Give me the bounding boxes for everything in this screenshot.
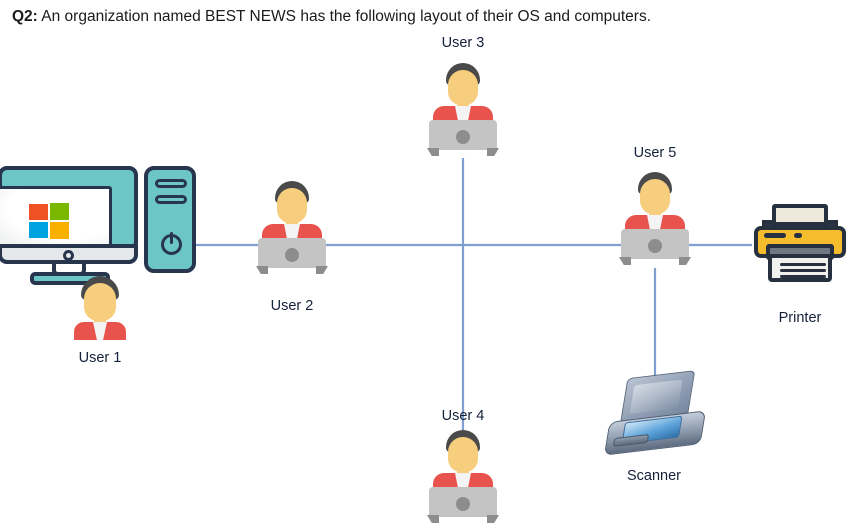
node-label-user5: User 5 bbox=[634, 145, 677, 161]
node-user5[interactable]: User 5 bbox=[613, 172, 697, 260]
laptop-user-icon bbox=[613, 172, 697, 260]
power-button-icon[interactable] bbox=[161, 234, 182, 255]
laptop-user-icon bbox=[421, 430, 505, 518]
monitor-power-led bbox=[63, 250, 74, 261]
node-label-printer: Printer bbox=[779, 310, 822, 326]
node-user2[interactable]: User 2 bbox=[250, 181, 334, 269]
laptop-user-icon bbox=[421, 63, 505, 151]
laptop-logo bbox=[456, 130, 470, 144]
laptop-user-icon bbox=[250, 181, 334, 269]
node-user1[interactable]: User 1 bbox=[16, 158, 201, 280]
node-user4[interactable]: User 4 bbox=[421, 430, 505, 518]
user1-avatar bbox=[68, 276, 132, 338]
node-label-user1: User 1 bbox=[79, 350, 122, 366]
drive-slot-top bbox=[155, 179, 187, 188]
printer-paper-tray bbox=[772, 204, 828, 226]
scanner-icon bbox=[608, 374, 700, 452]
diagram-canvas: Q2: An organization named BEST NEWS has … bbox=[0, 0, 863, 528]
printer-indicator-dot bbox=[794, 233, 802, 238]
monitor-screen bbox=[0, 186, 112, 248]
printer-indicator-bar bbox=[764, 233, 786, 238]
node-scanner[interactable]: Scanner bbox=[608, 374, 700, 452]
node-printer[interactable]: Printer bbox=[752, 204, 848, 284]
windows-logo-icon bbox=[29, 203, 71, 239]
printer-printed-page bbox=[768, 254, 832, 282]
desktop-computer-icon bbox=[16, 158, 201, 280]
node-label-user3: User 3 bbox=[442, 35, 485, 51]
monitor-bezel bbox=[0, 166, 138, 251]
printer-icon bbox=[752, 204, 848, 284]
node-label-scanner: Scanner bbox=[627, 468, 681, 484]
node-label-user2: User 2 bbox=[271, 298, 314, 314]
laptop-logo bbox=[456, 497, 470, 511]
laptop-logo bbox=[285, 248, 299, 262]
node-user3[interactable]: User 3 bbox=[421, 63, 505, 151]
drive-slot-bottom bbox=[155, 195, 187, 204]
power-icon-notch bbox=[150, 218, 166, 225]
node-label-user4: User 4 bbox=[442, 408, 485, 424]
laptop-logo bbox=[648, 239, 662, 253]
